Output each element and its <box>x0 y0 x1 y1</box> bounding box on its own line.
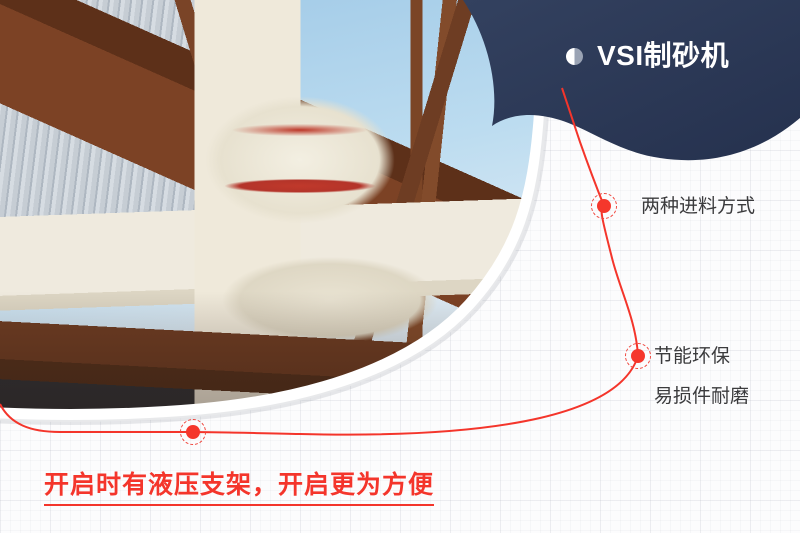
photo-outline-shadow <box>0 2 547 422</box>
photo-outline-stroke <box>0 0 541 415</box>
marker-core-icon <box>597 199 611 213</box>
banner-title-group: VSI制砂机 <box>566 42 729 70</box>
promo-banner-stage: VSI制砂机 两种进料方式 节能环保 易损件耐磨 开启时有液压支架，开启更为方便 <box>0 0 800 533</box>
feature-label-2: 节能环保 <box>654 347 730 366</box>
feature-label-3: 易损件耐磨 <box>654 387 749 406</box>
half-tone-dot-icon <box>566 48 583 65</box>
marker-core-icon <box>186 425 200 439</box>
decorative-vector-overlay <box>0 0 800 533</box>
caption-text: 开启时有液压支架，开启更为方便 <box>44 470 434 506</box>
marker-core-icon <box>631 349 645 363</box>
feature-label-1: 两种进料方式 <box>641 197 755 216</box>
page-title: VSI制砂机 <box>597 42 729 70</box>
header-banner-shape <box>463 0 800 160</box>
feature-marker-2[interactable] <box>625 343 651 369</box>
feature-marker-1[interactable] <box>591 193 617 219</box>
caption-marker[interactable] <box>180 419 206 445</box>
